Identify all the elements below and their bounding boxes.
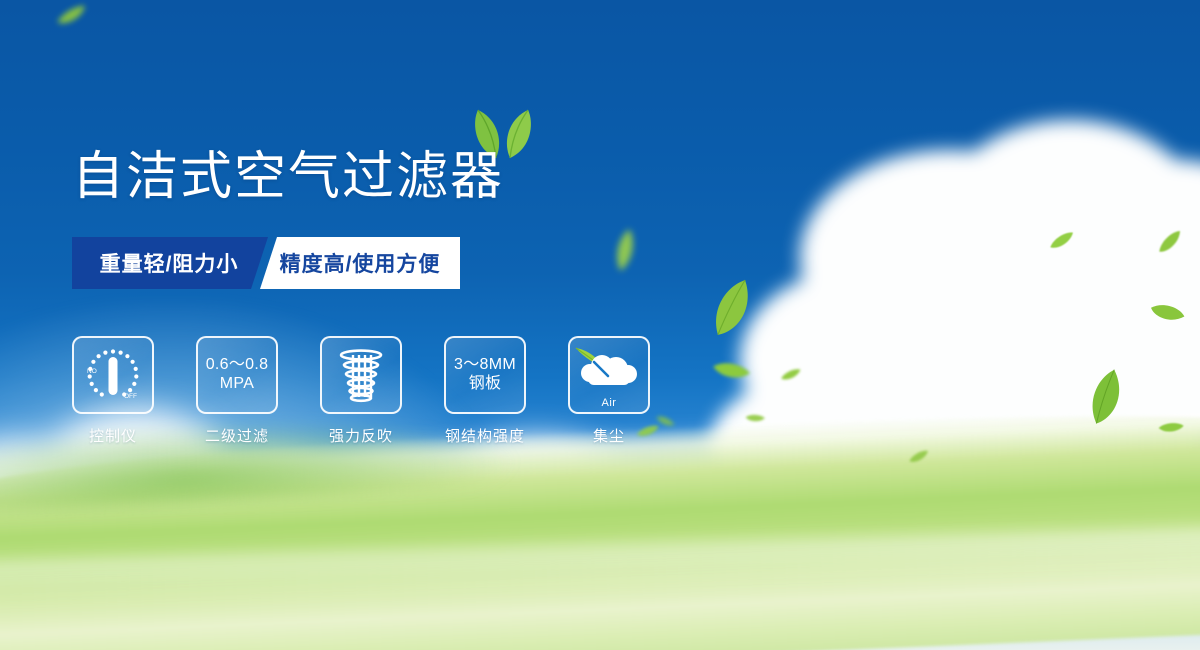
- filter-cartridge-icon: [333, 346, 389, 404]
- feature-label: 钢结构强度: [445, 425, 525, 446]
- dial-on-label: NO: [87, 368, 97, 375]
- feature-item-control-gauge[interactable]: NO OFF 控制仪: [72, 336, 154, 446]
- feature-item-two-stage-filtration[interactable]: 0.6～0.8 MPA 二级过滤: [196, 336, 278, 446]
- subtitle-left: 重量轻/阻力小: [72, 237, 268, 289]
- feature-item-steel-structure[interactable]: 3～8MM 钢板 钢结构强度: [444, 336, 526, 446]
- feature-list: NO OFF 控制仪 0.6～0.8 MPA 二级过滤: [72, 336, 650, 446]
- subtitle-right: 精度高/使用方便: [260, 237, 460, 289]
- feature-label: 二级过滤: [205, 425, 269, 446]
- dial-gauge-icon: NO OFF: [82, 345, 144, 405]
- feature-tile: [320, 336, 402, 414]
- dial-off-label: OFF: [124, 393, 137, 400]
- feature-tile: 3～8MM 钢板: [444, 336, 526, 414]
- feature-label: 控制仪: [89, 425, 137, 446]
- feature-tile: Air: [568, 336, 650, 414]
- feature-label: 集尘: [593, 425, 625, 446]
- feature-tile: 0.6～0.8 MPA: [196, 336, 278, 414]
- cloud-air-icon: [574, 346, 644, 396]
- air-label: Air: [602, 397, 617, 409]
- subtitle-banner: 重量轻/阻力小 精度高/使用方便: [72, 237, 460, 289]
- feature-tile: NO OFF: [72, 336, 154, 414]
- feature-label: 强力反吹: [329, 425, 393, 446]
- product-hero-banner: 自洁式空气过滤器 重量轻/阻力小 精度高/使用方便: [0, 0, 1200, 650]
- pressure-text-icon: 0.6～0.8 MPA: [206, 356, 269, 394]
- page-title: 自洁式空气过滤器: [72, 148, 504, 208]
- feature-item-dust-collection[interactable]: Air 集尘: [568, 336, 650, 446]
- feature-item-strong-blowback[interactable]: 强力反吹: [320, 336, 402, 446]
- steel-plate-text-icon: 3～8MM 钢板: [454, 356, 516, 394]
